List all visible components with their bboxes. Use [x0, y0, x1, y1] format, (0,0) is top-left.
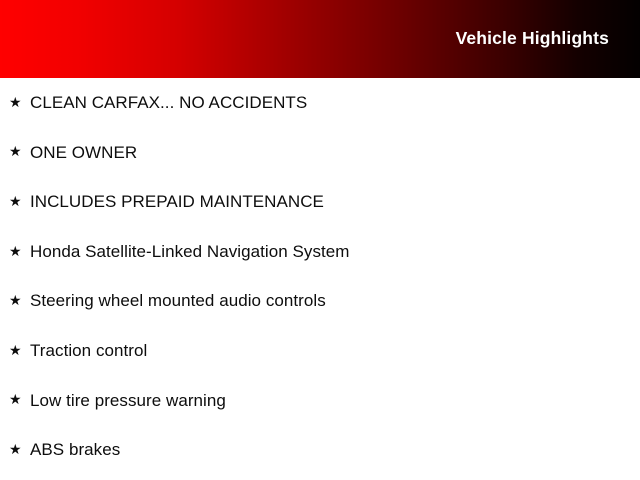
vehicle-highlights-list: ★ CLEAN CARFAX... NO ACCIDENTS ★ ONE OWN… — [0, 78, 640, 480]
highlight-label: ONE OWNER — [30, 143, 137, 163]
page-title: Vehicle Highlights — [456, 30, 609, 48]
highlight-label: ABS brakes — [30, 440, 120, 460]
list-item: ★ Honda Satellite-Linked Navigation Syst… — [0, 227, 640, 277]
star-icon: ★ — [9, 293, 30, 307]
list-item: ★ ONE OWNER — [0, 128, 640, 178]
list-item: ★ CLEAN CARFAX... NO ACCIDENTS — [0, 78, 640, 128]
page-header-banner: Vehicle Highlights — [0, 0, 640, 78]
list-item: ★ Low tire pressure warning — [0, 376, 640, 426]
list-item: ★ ABS brakes — [0, 425, 640, 475]
star-icon: ★ — [9, 442, 30, 456]
star-icon: ★ — [9, 144, 30, 158]
highlight-label: Steering wheel mounted audio controls — [30, 291, 326, 311]
highlight-label: Low tire pressure warning — [30, 391, 226, 411]
highlight-label: INCLUDES PREPAID MAINTENANCE — [30, 192, 324, 212]
highlight-label: CLEAN CARFAX... NO ACCIDENTS — [30, 93, 307, 113]
vehicle-highlights-page: Vehicle Highlights ★ CLEAN CARFAX... NO … — [0, 0, 640, 480]
star-icon: ★ — [9, 343, 30, 357]
star-icon: ★ — [9, 95, 30, 109]
highlight-label: Traction control — [30, 341, 147, 361]
star-icon: ★ — [9, 194, 30, 208]
list-item: ★ Traction control — [0, 326, 640, 376]
list-item: ★ Steering wheel mounted audio controls — [0, 276, 640, 326]
star-icon: ★ — [9, 244, 30, 258]
highlight-label: Honda Satellite-Linked Navigation System — [30, 242, 350, 262]
list-item: ★ INCLUDES PREPAID MAINTENANCE — [0, 177, 640, 227]
star-icon: ★ — [9, 392, 30, 406]
